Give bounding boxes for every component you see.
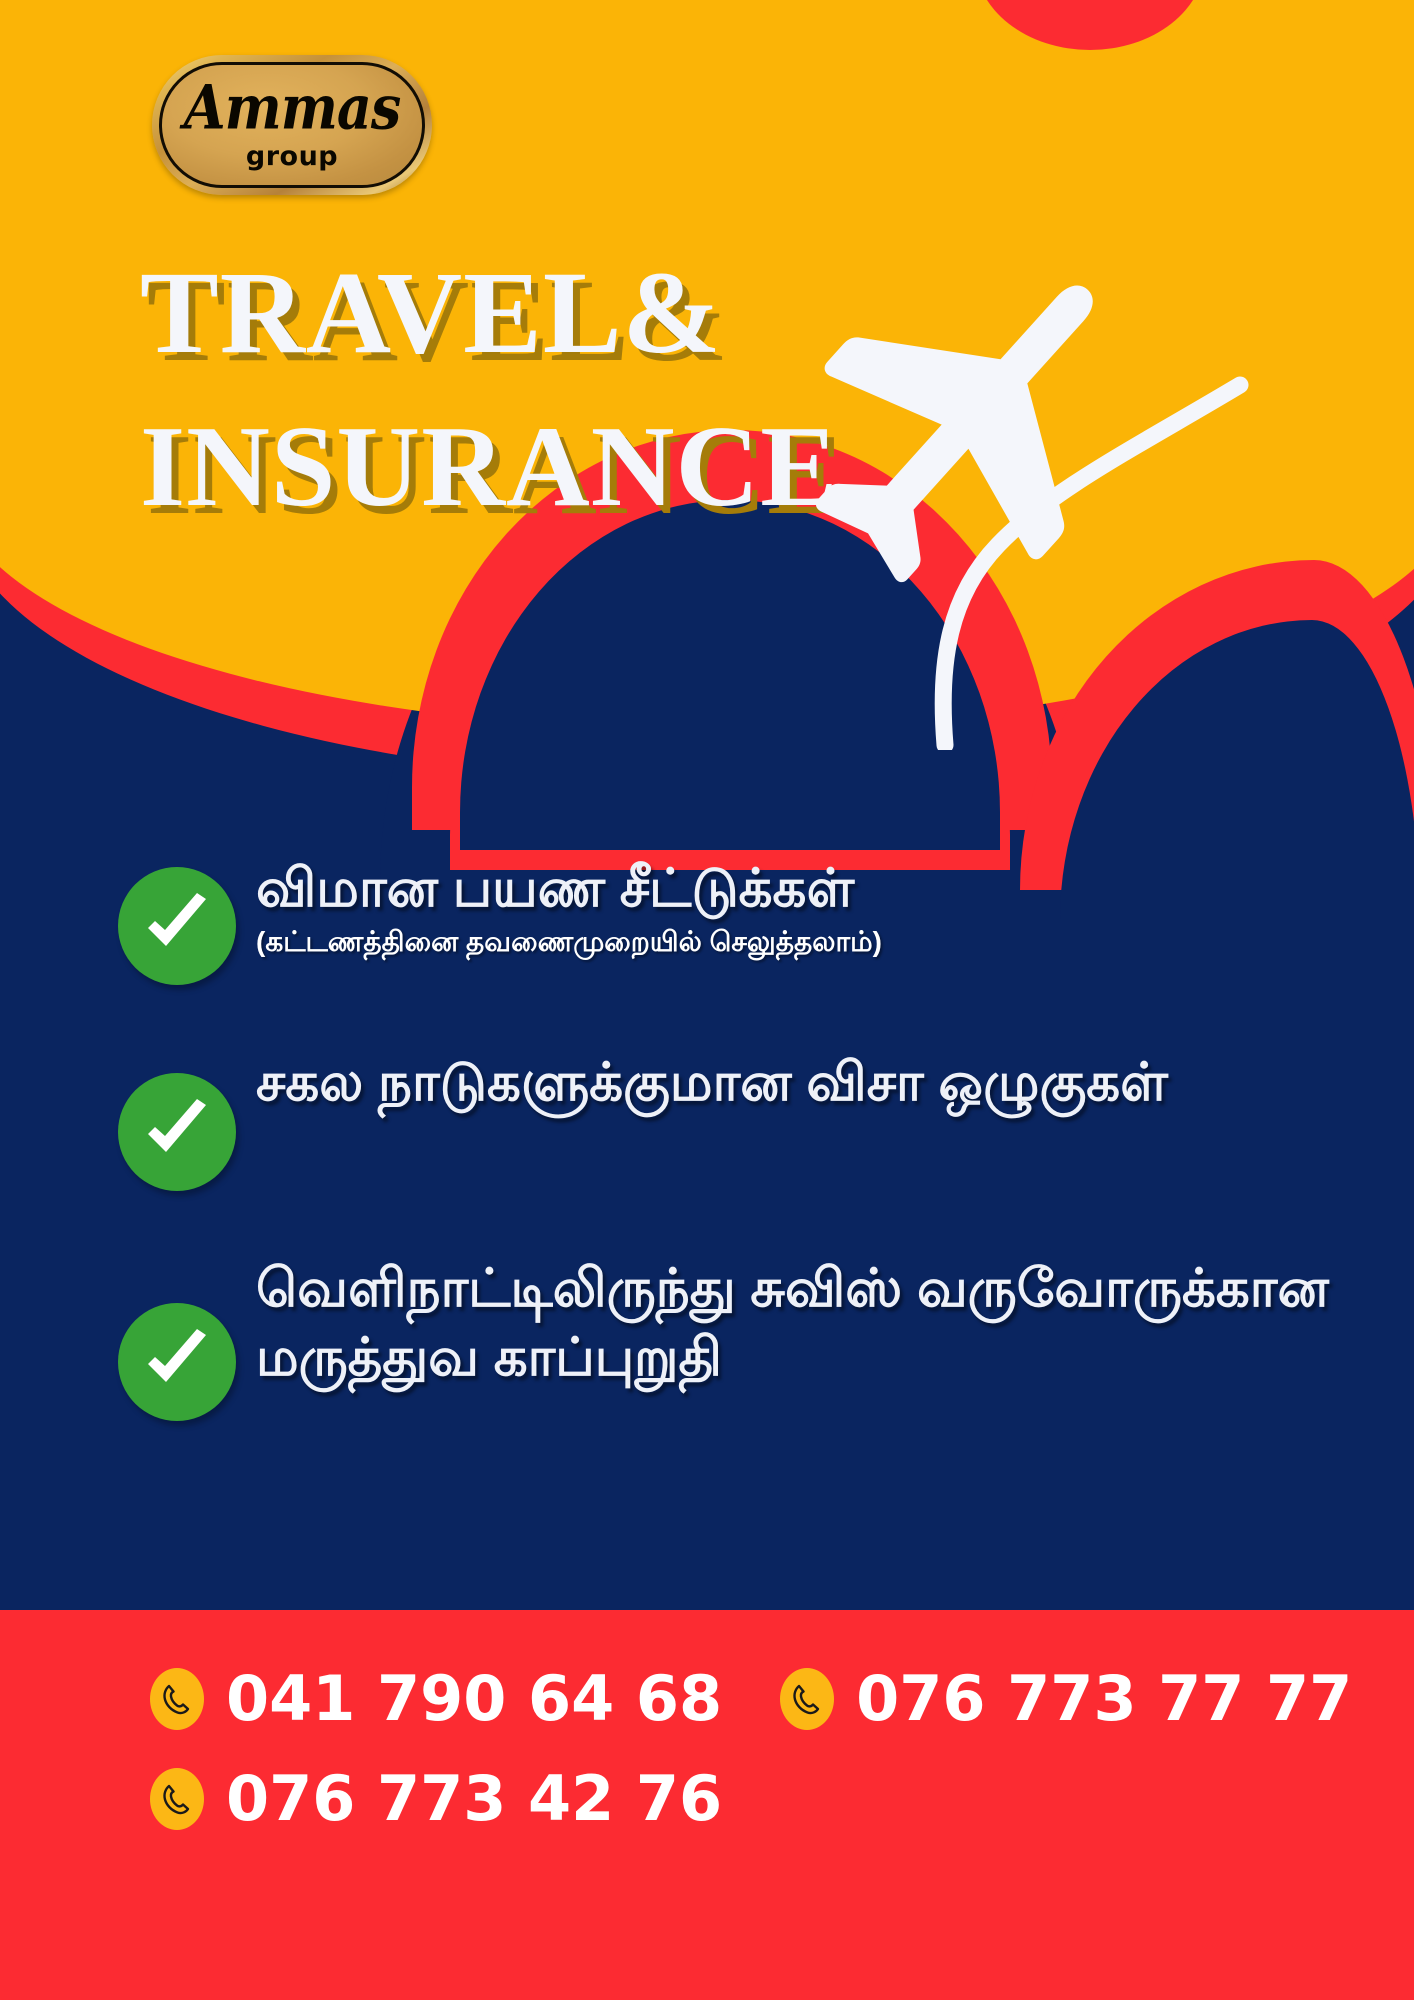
- brand-logo-subtitle: group: [246, 143, 338, 170]
- check-icon: [139, 1324, 215, 1400]
- phone-entry-1[interactable]: 041 790 64 68: [150, 1668, 722, 1730]
- poster-root: Ammas group TRAVEL& INSURANCE விமான பயண …: [0, 0, 1414, 2000]
- services-list: விமான பயண சீட்டுக்கள் (கட்டணத்தினை தவணைம…: [0, 855, 1414, 1485]
- phone-number-3: 076 773 42 76: [226, 1768, 722, 1830]
- check-icon: [139, 888, 215, 964]
- service-item-1: விமான பயண சீட்டுக்கள் (கட்டணத்தினை தவணைம…: [0, 855, 1414, 985]
- phone-icon: [150, 1668, 204, 1730]
- phone-number-2: 076 773 77 77: [856, 1668, 1352, 1730]
- service-text-2: சகல நாடுகளுக்குமான விசா ஒழுகுகள்: [256, 1049, 1168, 1118]
- check-circle-icon: [118, 1073, 236, 1191]
- service-item-2: சகல நாடுகளுக்குமான விசா ஒழுகுகள்: [0, 1049, 1414, 1191]
- phone-icon: [150, 1768, 204, 1830]
- phone-handset-icon: [160, 1682, 194, 1716]
- phone-row-2: 076 773 42 76: [150, 1768, 1414, 1830]
- phone-number-1: 041 790 64 68: [226, 1668, 722, 1730]
- phone-icon: [780, 1668, 834, 1730]
- service-item-3: வெளிநாட்டிலிருந்து சுவிஸ் வருவோருக்கான ம…: [0, 1255, 1414, 1421]
- check-circle-icon: [118, 1303, 236, 1421]
- phone-handset-icon: [160, 1782, 194, 1816]
- brand-logo-inner: Ammas group: [159, 62, 425, 188]
- phone-entry-2[interactable]: 076 773 77 77: [780, 1668, 1352, 1730]
- service-title-2: சகல நாடுகளுக்குமான விசா ஒழுகுகள்: [256, 1049, 1168, 1118]
- phone-row-1: 041 790 64 68 076 773 77 77: [150, 1668, 1414, 1730]
- check-icon: [139, 1094, 215, 1170]
- phone-handset-icon: [790, 1682, 824, 1716]
- service-note-1: (கட்டணத்தினை தவணைமுறையில் செலுத்தலாம்): [256, 926, 882, 962]
- airplane-graphic: [600, 190, 1300, 750]
- phone-entry-3[interactable]: 076 773 42 76: [150, 1768, 722, 1830]
- airplane-trail-icon: [600, 190, 1300, 750]
- brand-logo-word: Ammas: [184, 77, 401, 137]
- service-text-3: வெளிநாட்டிலிருந்து சுவிஸ் வருவோருக்கான ம…: [256, 1255, 1414, 1393]
- brand-logo-badge: Ammas group: [152, 55, 432, 195]
- service-text-1: விமான பயண சீட்டுக்கள் (கட்டணத்தினை தவணைம…: [256, 855, 882, 962]
- service-title-1: விமான பயண சீட்டுக்கள்: [256, 855, 882, 924]
- service-title-3: வெளிநாட்டிலிருந்து சுவிஸ் வருவோருக்கான ம…: [256, 1255, 1414, 1393]
- contact-footer: 041 790 64 68 076 773 77 77 076 773 42: [0, 1610, 1414, 2000]
- check-circle-icon: [118, 867, 236, 985]
